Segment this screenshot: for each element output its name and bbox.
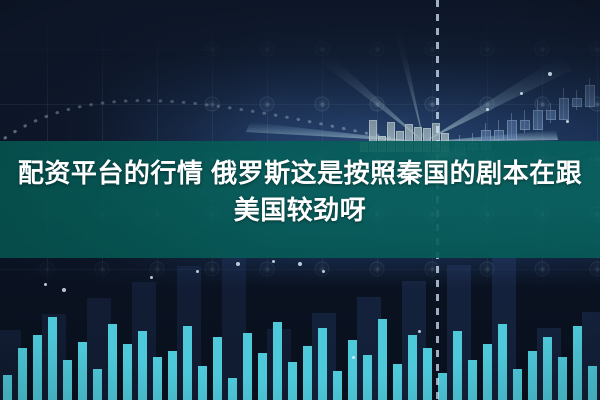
corner-vignette <box>0 0 600 400</box>
banner-image: 配资平台的行情 俄罗斯这是按照秦国的剧本在跟 美国较劲呀 <box>0 0 600 400</box>
